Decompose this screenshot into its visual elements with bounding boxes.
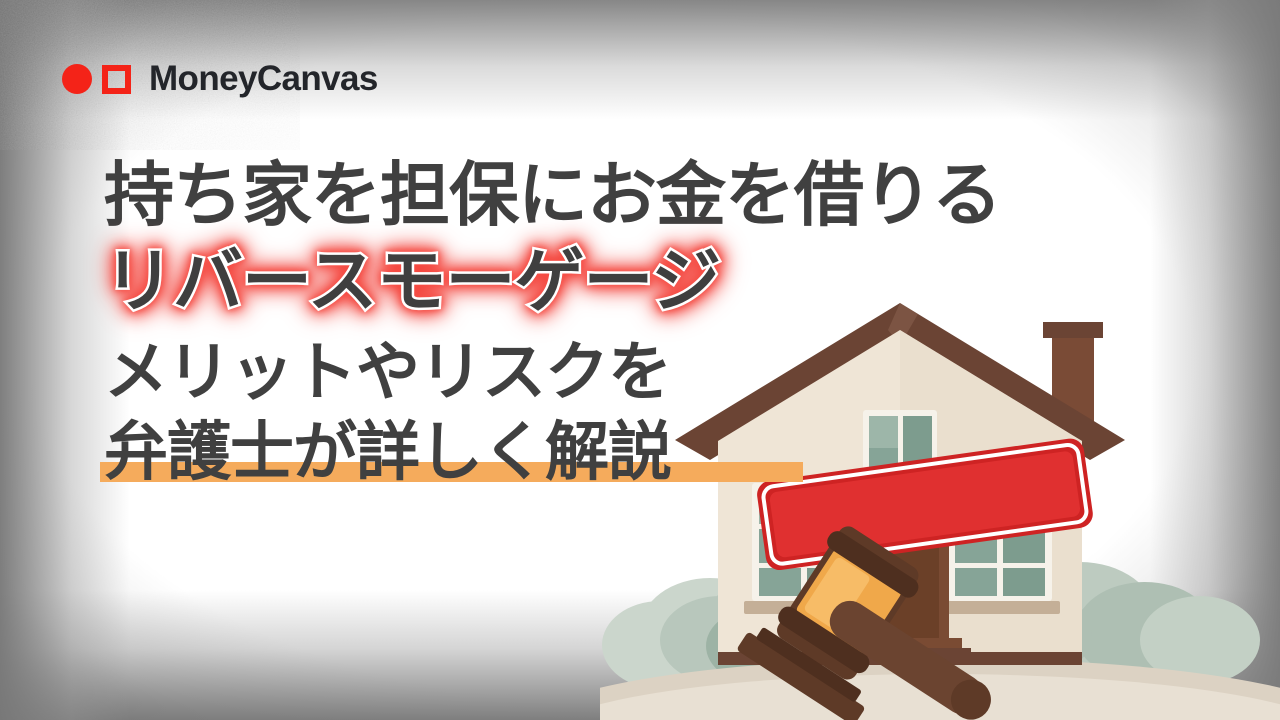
chimney-cap xyxy=(1043,322,1103,338)
red-filled-circle-icon xyxy=(62,64,92,94)
red-outline-square-icon xyxy=(102,65,131,94)
thumbnail-canvas: MoneyCanvas xyxy=(0,0,1280,720)
brand-logo-text: MoneyCanvas xyxy=(149,59,378,99)
headline-line-3: メリットやリスクを xyxy=(104,340,1001,404)
brand-logo[interactable]: MoneyCanvas xyxy=(62,59,378,99)
headline-line-4-wrap: 弁護士が詳しく解説 xyxy=(104,420,671,484)
headline-line-4: 弁護士が詳しく解説 xyxy=(104,420,671,484)
headline-line-1: 持ち家を担保にお金を借りる xyxy=(104,160,1001,230)
headline-block: 持ち家を担保にお金を借りる リバースモーゲージ メリットやリスクを 弁護士が詳し… xyxy=(104,160,1001,484)
headline-line-2-keyword: リバースモーゲージ xyxy=(104,246,1001,316)
